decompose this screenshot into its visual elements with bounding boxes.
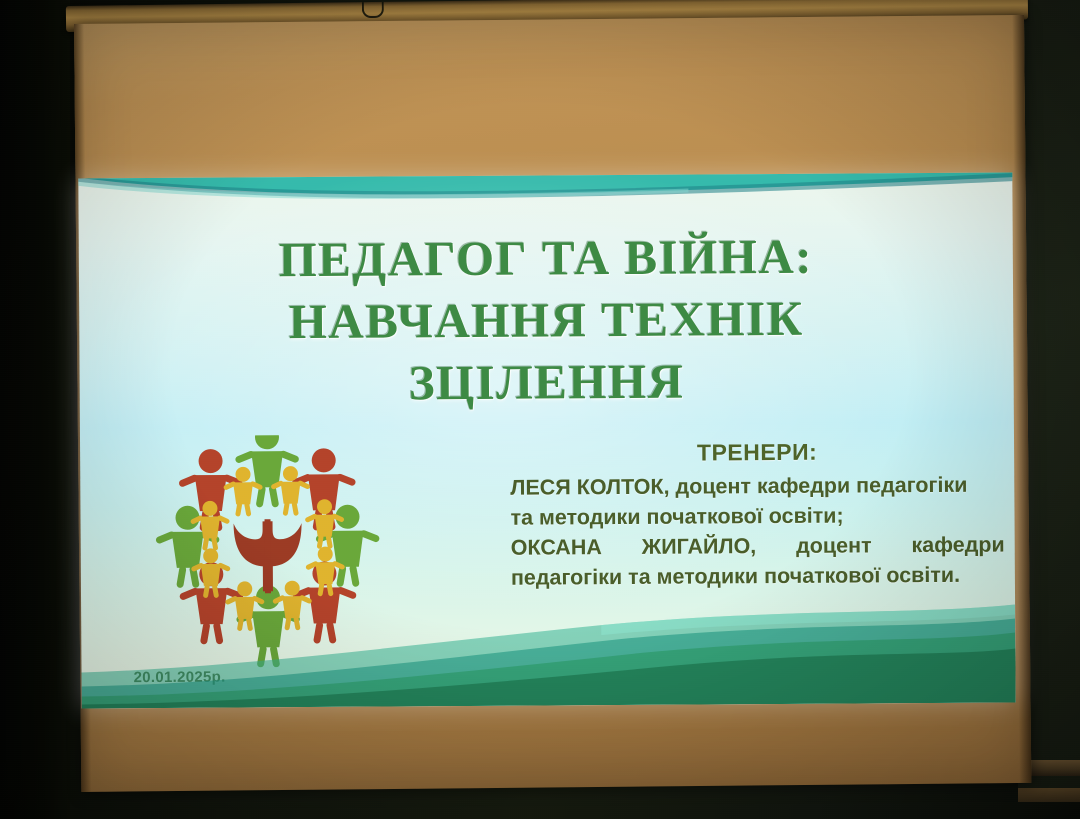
trainer-1-role-part-1: доцент кафедри педагогіки (675, 473, 967, 499)
slide-title-line-3: ЗЦІЛЕННЯ (79, 348, 1013, 416)
trainer-2-role-word-1: доцент (796, 530, 872, 560)
slide-bottom-wave-decoration (81, 570, 1016, 708)
slide-title-line-1: ПЕДАГОГ ТА ВІЙНА: (79, 224, 1013, 292)
photo-scene: ПЕДАГОГ ТА ВІЙНА: НАВЧАННЯ ТЕХНІК ЗЦІЛЕН… (0, 0, 1080, 819)
blackboard-lower-ledge (1018, 788, 1080, 802)
top-wave-svg (78, 172, 1015, 208)
trainer-2-firstname: ОКСАНА (511, 532, 602, 563)
bottom-wave-svg (81, 570, 1016, 708)
room-wall-left-shadow (0, 0, 70, 819)
projector-screen: ПЕДАГОГ ТА ВІЙНА: НАВЧАННЯ ТЕХНІК ЗЦІЛЕН… (74, 15, 1031, 792)
trainer-1-line-1: ЛЕСЯ КОЛТОК, доцент кафедри педагогіки (510, 470, 1004, 503)
screen-mount-hook-icon (362, 2, 384, 18)
trainer-2-lastname: ЖИГАЙЛО, (642, 531, 757, 562)
slide-title-line-2: НАВЧАННЯ ТЕХНІК (79, 286, 1013, 354)
trainer-2-line-1: ОКСАНА ЖИГАЙЛО, доцент кафедри (511, 530, 1005, 563)
trainer-1-name: ЛЕСЯ КОЛТОК, (510, 475, 669, 500)
slide-top-wave-decoration (78, 172, 1015, 208)
trainers-heading: ТРЕНЕРИ: (510, 438, 1004, 468)
slide-title: ПЕДАГОГ ТА ВІЙНА: НАВЧАННЯ ТЕХНІК ЗЦІЛЕН… (79, 224, 1014, 416)
projected-slide: ПЕДАГОГ ТА ВІЙНА: НАВЧАННЯ ТЕХНІК ЗЦІЛЕН… (78, 172, 1015, 708)
trainers-block: ТРЕНЕРИ: ЛЕСЯ КОЛТОК, доцент кафедри пед… (510, 438, 1005, 593)
trainer-1-line-2: та методики початкової освіти; (510, 500, 1004, 533)
trainer-2-role-word-2: кафедри (911, 530, 1004, 561)
